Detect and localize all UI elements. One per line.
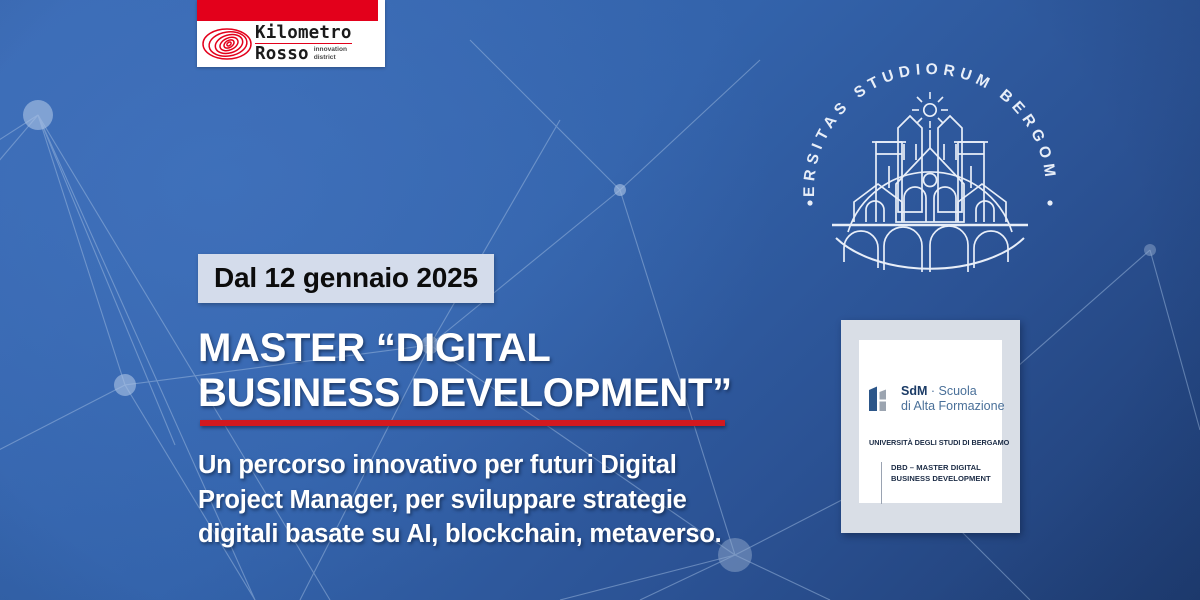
sdm-university-name: UNIVERSITÀ DEGLI STUDI DI BERGAMO (869, 438, 1009, 447)
seal-dot-right (1047, 200, 1052, 205)
description-text: Un percorso innovativo per futuri Digita… (198, 448, 798, 552)
sdm-brand: SdM · Scuola di Alta Formazione (869, 384, 1005, 413)
sdm-brand-line1: SdM · Scuola (901, 384, 1005, 399)
date-badge-label: Dal 12 gennaio 2025 (214, 262, 478, 293)
kilometro-rosso-logo: Kilometro Rosso innovation district (197, 0, 385, 67)
logo-subtitle-line1: innovation (314, 46, 347, 54)
rose-spiral-icon (201, 24, 253, 64)
logo-red-bar (197, 0, 378, 21)
seal-dot-left (807, 200, 812, 205)
university-seal: UNIVERSITAS STUDIORUM BERGOMENSIS (792, 62, 1068, 280)
logo-line-kilometro: Kilometro (255, 25, 352, 45)
sdm-brand-names: SdM · Scuola di Alta Formazione (901, 384, 1005, 413)
date-badge: Dal 12 gennaio 2025 (198, 254, 494, 303)
logo-subtitle-line2: district (314, 54, 347, 62)
sdm-card-inner: SdM · Scuola di Alta Formazione UNIVERSI… (859, 340, 1002, 503)
sdm-brand-short: SdM (901, 384, 927, 398)
logo-body: Kilometro Rosso innovation district (197, 21, 385, 67)
sdm-brand-line1-rest: Scuola (939, 384, 977, 398)
logo-line-rosso: Rosso (255, 46, 309, 64)
logo-subtitle: innovation district (314, 46, 347, 63)
seal-cathedral-motif (832, 92, 1028, 272)
logo-wordmark: Kilometro Rosso innovation district (255, 25, 352, 64)
page-title: MASTER “DIGITAL BUSINESS DEVELOPMENT” (198, 326, 818, 416)
sdm-course-block: DBD – MASTER DIGITAL BUSINESS DEVELOPMEN… (881, 462, 1006, 504)
sdm-brand-line2: di Alta Formazione (901, 399, 1005, 414)
sdm-building-mark (869, 385, 896, 411)
seal-circular-text: UNIVERSITAS STUDIORUM BERGOMENSIS (792, 62, 1059, 197)
sdm-logo-card: SdM · Scuola di Alta Formazione UNIVERSI… (841, 320, 1020, 533)
sdm-course-title: DBD – MASTER DIGITAL BUSINESS DEVELOPMEN… (891, 462, 1006, 485)
sdm-brand-separator: · (927, 384, 938, 398)
title-underline-rule (200, 420, 725, 426)
promo-banner: Kilometro Rosso innovation district UNIV… (0, 0, 1200, 600)
